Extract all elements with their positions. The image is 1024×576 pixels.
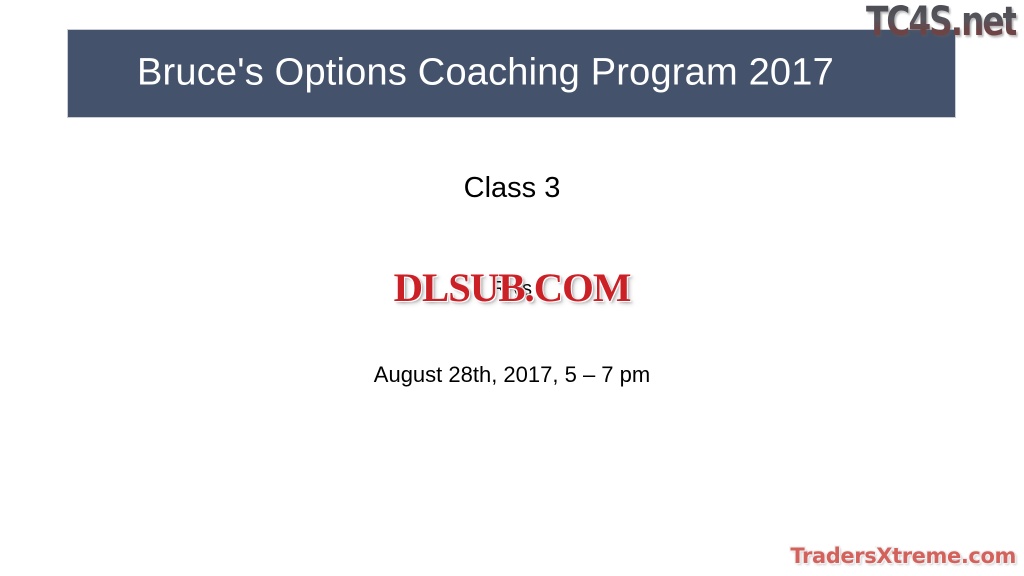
slide-title-bar: Bruce's Options Coaching Program 2017	[68, 30, 955, 117]
topic-line: R ys	[0, 278, 1024, 301]
date-time-line: August 28th, 2017, 5 – 7 pm	[0, 362, 1024, 388]
presentation-slide: Bruce's Options Coaching Program 2017 Cl…	[0, 0, 1024, 576]
class-number-line: Class 3	[0, 172, 1024, 205]
slide-title: Bruce's Options Coaching Program 2017	[137, 51, 834, 94]
